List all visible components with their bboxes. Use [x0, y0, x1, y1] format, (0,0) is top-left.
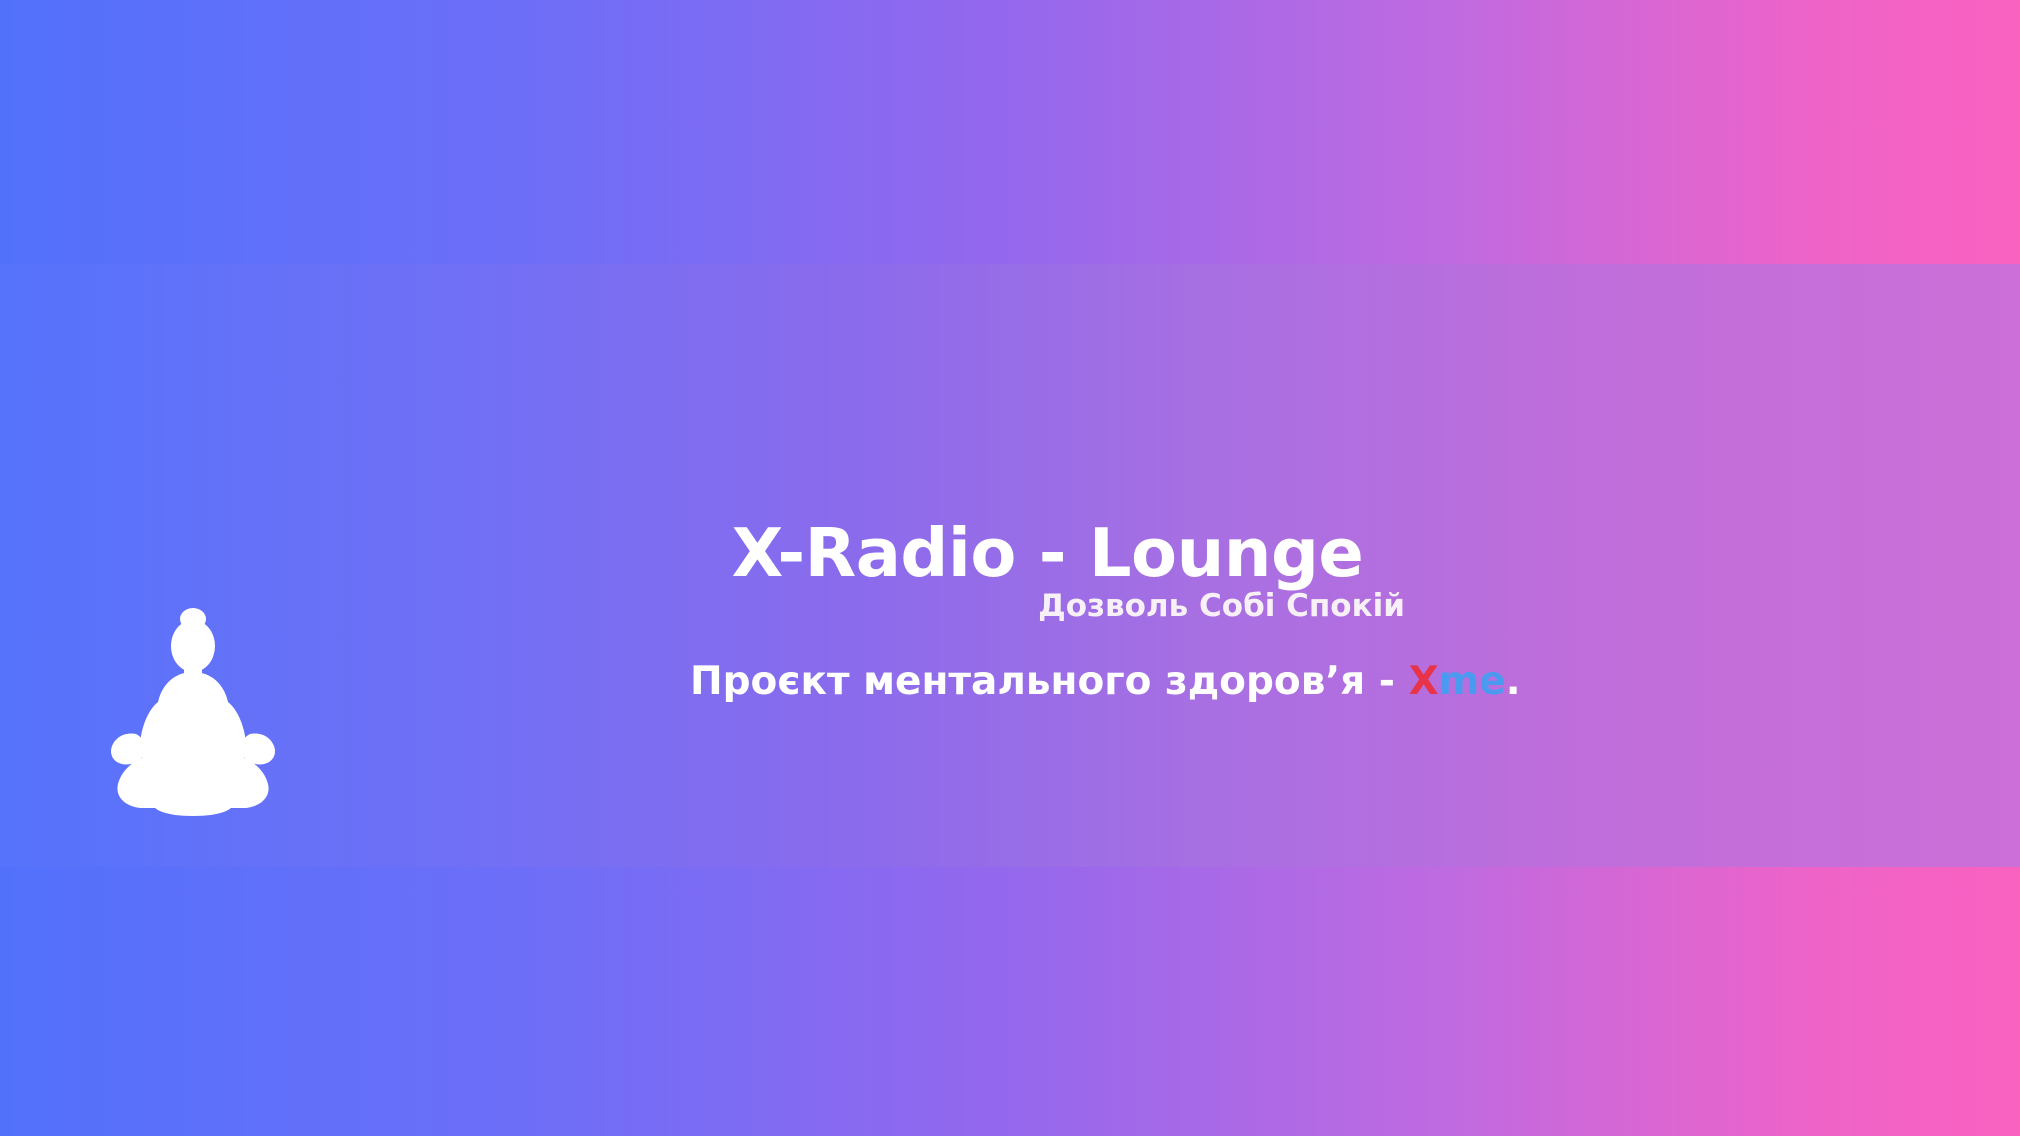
page-subtitle: Дозволь Собі Спокій	[690, 591, 1405, 622]
title-row: X-Radio - Lounge	[690, 520, 1405, 587]
station-banner: X-Radio - Lounge Дозволь Собі Спокій Про…	[0, 0, 2020, 1136]
tagline: Проєкт ментального здоров’я - Xme.	[690, 662, 1610, 701]
brand-mark-me: me	[1439, 659, 1506, 704]
brand-mark-x: X	[1409, 659, 1439, 704]
tagline-prefix: Проєкт ментального здоров’я -	[690, 659, 1409, 704]
banner-text-block: X-Radio - Lounge Дозволь Собі Спокій Про…	[690, 520, 1610, 701]
page-title: X-Radio - Lounge	[690, 520, 1405, 587]
meditation-lotus-figure-icon	[100, 606, 286, 820]
brand-mark-dot: .	[1506, 659, 1521, 704]
